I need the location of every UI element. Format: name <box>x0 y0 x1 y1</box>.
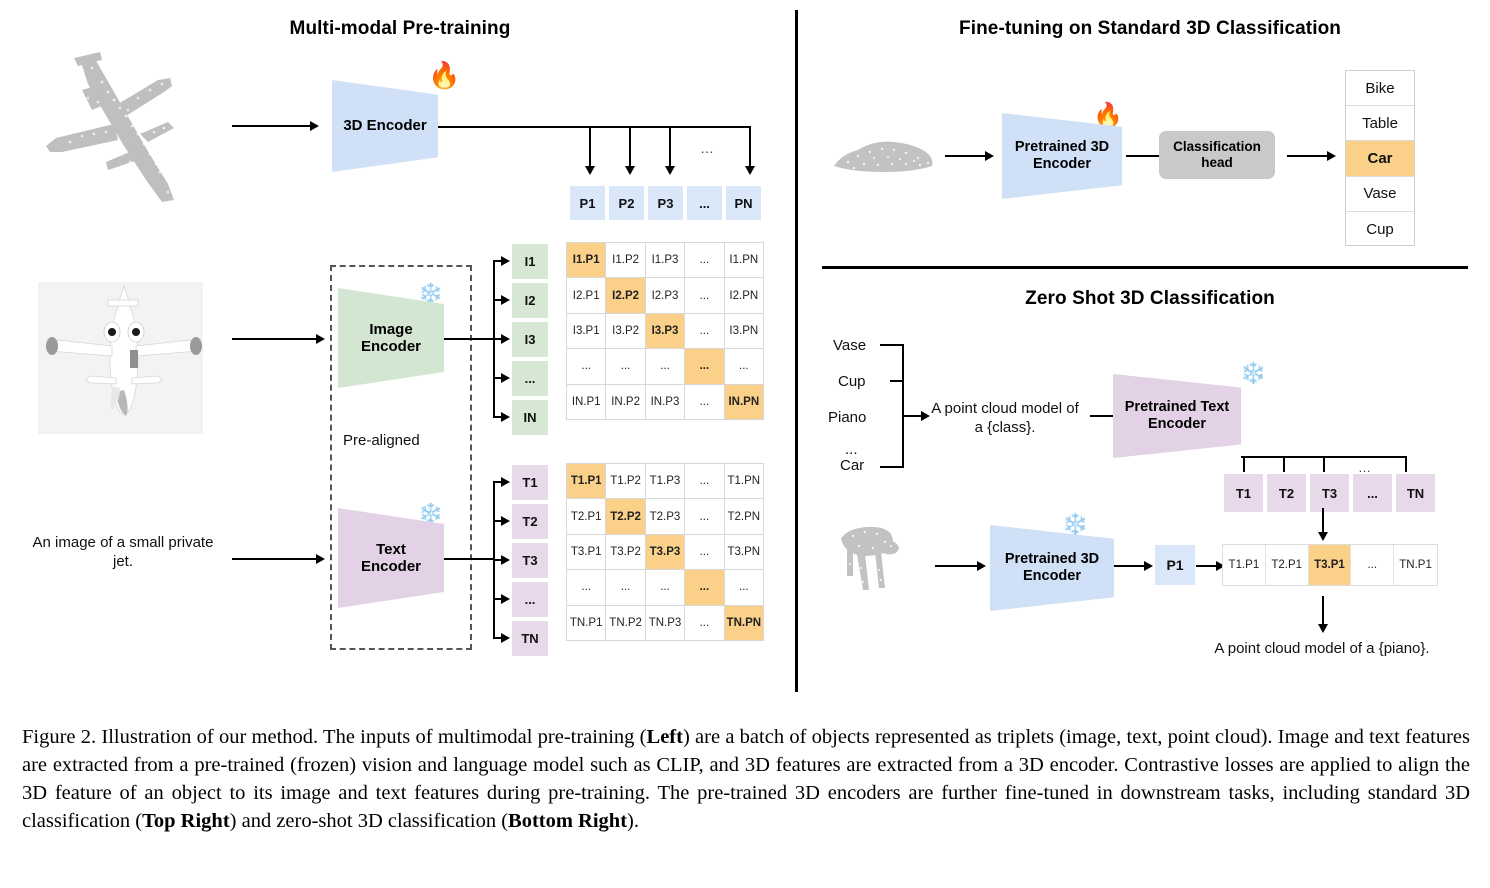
matrix-cell: T3.P1 <box>567 535 605 569</box>
candidate-class-1: Cup <box>838 373 866 392</box>
class-list-item[interactable]: Vase <box>1346 177 1414 212</box>
feature-cell: P1 <box>568 184 607 222</box>
arrow-p1-to-similarity <box>1196 565 1218 567</box>
drop-p2 <box>629 126 631 170</box>
figure-2-illustration: Multi-modal Pre-training <box>0 0 1490 888</box>
text-feature-column: T1T2T3...TN <box>510 463 550 658</box>
zeroshot-similarity-row: T1.P1T2.P1T3.P1...TN.P1 <box>1222 544 1438 586</box>
arrow-head <box>501 633 510 643</box>
matrix-cell: T1.PN <box>725 464 763 498</box>
similarity-cell: T1.P1 <box>1223 545 1266 585</box>
matrix-cell: IN.P1 <box>567 385 605 419</box>
text-feature-line <box>444 558 494 560</box>
zs-3d-encoder-label: Pretrained 3D Encoder <box>1005 551 1099 584</box>
matrix-cell: ... <box>567 570 605 604</box>
arrow-classes-to-prompt <box>903 415 923 417</box>
encoder-label-line2: Encoder <box>1033 156 1091 172</box>
matrix-cell: TN.PN <box>725 606 763 640</box>
feature-cell: I2 <box>510 281 550 320</box>
arrow-head <box>501 295 510 305</box>
snowflake-icon: ❄️ <box>1062 514 1088 535</box>
matrix-cell: ... <box>567 349 605 383</box>
matrix-cell: I1.PN <box>725 243 763 277</box>
matrix-cell: I1.P1 <box>567 243 605 277</box>
arrow-head <box>501 334 510 344</box>
image-feature-line <box>444 338 494 340</box>
feature-cell: I3 <box>510 320 550 359</box>
text-input-value: An image of a small private jet. <box>33 534 214 570</box>
class-prediction-list[interactable]: BikeTableCarVaseCup <box>1345 70 1415 246</box>
drop-pn <box>749 126 751 170</box>
class-list-item[interactable]: Car <box>1346 141 1414 176</box>
three-d-encoder-label: 3D Encoder <box>343 117 426 134</box>
arrow-head <box>1318 624 1328 633</box>
arrow-encoder-to-p1 <box>1114 565 1146 567</box>
class-bracket <box>880 344 904 468</box>
image-encoder-label-line2: Encoder <box>361 338 421 355</box>
arrow-head <box>665 166 675 175</box>
feature-cell: ... <box>510 359 550 398</box>
matrix-cell: T3.P2 <box>606 535 644 569</box>
caption-text: Figure 2. Illustration of our method. Th… <box>22 726 647 748</box>
caption-emphasis: Bottom Right <box>508 810 627 832</box>
text-encoder-label: Text Encoder <box>361 541 421 576</box>
class-list-item[interactable]: Table <box>1346 106 1414 141</box>
matrix-cell: I3.P3 <box>646 314 684 348</box>
matrix-cell: TN.P2 <box>606 606 644 640</box>
feature-cell: T1 <box>510 463 550 502</box>
prompt-line2: a {class}. <box>975 419 1036 436</box>
matrix-cell: IN.P2 <box>606 385 644 419</box>
similarity-cell: ... <box>1351 545 1394 585</box>
vertical-divider <box>795 10 798 692</box>
matrix-cell: T2.PN <box>725 499 763 533</box>
matrix-cell: ... <box>725 349 763 383</box>
matrix-cell: I2.P3 <box>646 278 684 312</box>
candidate-class-0: Vase <box>833 337 866 356</box>
zeroshot-text-feature-row: T1T2T3...TN <box>1222 472 1437 514</box>
text-input-label: An image of a small private jet. <box>32 534 214 572</box>
matrix-cell: T1.P3 <box>646 464 684 498</box>
drop-p3 <box>669 126 671 170</box>
matrix-cell: T2.P3 <box>646 499 684 533</box>
arrow-head <box>310 121 319 131</box>
arrow-head <box>501 594 510 604</box>
feature-cell: T3 <box>1308 472 1351 514</box>
classification-head[interactable]: Classification head <box>1159 131 1275 179</box>
airplane-image-thumbnail <box>38 282 203 434</box>
zeroshot-point-feature: P1 <box>1155 545 1195 585</box>
matrix-cell: ... <box>685 499 723 533</box>
matrix-cell: ... <box>685 535 723 569</box>
arrow-head <box>501 412 510 422</box>
arrow-text-to-textencoder <box>232 558 318 560</box>
image-feature-column: I1I2I3...IN <box>510 242 550 437</box>
matrix-cell: ... <box>685 349 723 383</box>
matrix-cell: ... <box>725 570 763 604</box>
caption-text: ). <box>627 810 639 832</box>
text-encoder-label-line1: Pretrained Text <box>1125 399 1230 415</box>
similarity-cell: T3.P1 <box>1309 545 1352 585</box>
feature-cell: P2 <box>607 184 646 222</box>
horizontal-divider <box>822 266 1468 269</box>
pretrained-text-encoder[interactable]: Pretrained Text Encoder <box>1113 374 1241 458</box>
arrow-head <box>745 166 755 175</box>
fire-icon: 🔥 <box>428 62 460 88</box>
matrix-cell: T3.PN <box>725 535 763 569</box>
arrow-head-to-classes <box>1287 155 1329 157</box>
snowflake-icon: ❄️ <box>1240 363 1266 384</box>
three-d-encoder[interactable]: 3D Encoder <box>332 80 438 172</box>
arrow-head <box>501 256 510 266</box>
matrix-cell: I1.P2 <box>606 243 644 277</box>
arrow-head <box>501 477 510 487</box>
matrix-cell: ... <box>685 243 723 277</box>
text-encoder-label-line2: Encoder <box>1148 416 1206 432</box>
figure-caption: Figure 2. Illustration of our method. Th… <box>22 724 1470 836</box>
matrix-cell: ... <box>606 349 644 383</box>
feature-cell: T3 <box>510 541 550 580</box>
car-point-cloud <box>828 130 938 182</box>
bottom-right-panel-title: Zero Shot 3D Classification <box>880 288 1420 310</box>
matrix-cell: TN.P1 <box>567 606 605 640</box>
arrow-head <box>585 166 595 175</box>
feature-cell: ... <box>1351 472 1394 514</box>
matrix-cell: IN.P3 <box>646 385 684 419</box>
prompt-template: A point cloud model of a {class}. <box>925 400 1085 438</box>
matrix-cell: I2.P2 <box>606 278 644 312</box>
arrow-head <box>625 166 635 175</box>
similarity-cell: T2.P1 <box>1266 545 1309 585</box>
matrix-cell: T1.P1 <box>567 464 605 498</box>
image-encoder-label-line1: Image <box>369 321 412 338</box>
arrow-image-to-imageencoder <box>232 338 318 340</box>
image-encoder[interactable]: Image Encoder <box>338 288 444 388</box>
arrow-pointcloud-to-3dencoder <box>232 125 312 127</box>
arrow-head <box>501 373 510 383</box>
class-list-item[interactable]: Bike <box>1346 71 1414 106</box>
matrix-cell: I3.PN <box>725 314 763 348</box>
matrix-cell: ... <box>606 570 644 604</box>
matrix-cell: I3.P1 <box>567 314 605 348</box>
arrow-car-to-encoder <box>945 155 987 157</box>
head-label-line2: head <box>1201 155 1233 170</box>
matrix-cell: I2.P1 <box>567 278 605 312</box>
feature-cell: T2 <box>510 502 550 541</box>
arrow-head <box>985 151 994 161</box>
top-right-panel-title: Fine-tuning on Standard 3D Classificatio… <box>850 18 1450 40</box>
point-feature-row: P1P2P3...PN <box>568 184 763 222</box>
pretrained-3d-encoder-finetune[interactable]: Pretrained 3D Encoder <box>1002 113 1122 199</box>
arrow-head <box>501 555 510 565</box>
text-encoder-label-line2: Encoder <box>361 558 421 575</box>
similarity-cell: TN.P1 <box>1394 545 1437 585</box>
matrix-cell: T1.P2 <box>606 464 644 498</box>
matrix-cell: ... <box>685 606 723 640</box>
feature-cell: TN <box>1394 472 1437 514</box>
image-encoder-label: Image Encoder <box>361 321 421 356</box>
feature-cell: I1 <box>510 242 550 281</box>
arrow-head <box>977 561 986 571</box>
encoder-label-line1: Pretrained 3D <box>1015 139 1109 155</box>
classification-head-label: Classification head <box>1173 139 1261 171</box>
matrix-cell: I3.P2 <box>606 314 644 348</box>
matrix-cell: T2.P1 <box>567 499 605 533</box>
arrow-piano-to-encoder <box>935 565 979 567</box>
matrix-cell: IN.PN <box>725 385 763 419</box>
feature-bus-line <box>438 126 750 128</box>
image-point-similarity-matrix: I1.P1I1.P2I1.P3...I1.PNI2.P1I2.P2I2.P3..… <box>566 242 764 420</box>
text-point-similarity-matrix: T1.P1T1.P2T1.P3...T1.PNT2.P1T2.P2T2.P3..… <box>566 463 764 641</box>
pretrained-text-encoder-label: Pretrained Text Encoder <box>1125 399 1230 432</box>
feature-cell: PN <box>724 184 763 222</box>
pretrained-3d-encoder-label: Pretrained 3D Encoder <box>1015 139 1109 172</box>
zeroshot-result-text: A point cloud model of a {piano}. <box>1172 640 1472 659</box>
feature-cell: ... <box>510 580 550 619</box>
arrow-head <box>1318 532 1328 541</box>
pretrained-3d-encoder-zeroshot[interactable]: Pretrained 3D Encoder <box>990 525 1114 611</box>
arrow-head <box>316 334 325 344</box>
caption-text: ) and zero-shot 3D classification ( <box>230 810 508 832</box>
caption-emphasis: Left <box>647 726 683 748</box>
matrix-cell: TN.P3 <box>646 606 684 640</box>
matrix-cell: ... <box>685 464 723 498</box>
matrix-cell: T2.P2 <box>606 499 644 533</box>
ellipsis-drop-label: … <box>700 140 714 158</box>
feature-cell: ... <box>685 184 724 222</box>
left-panel-title: Multi-modal Pre-training <box>180 18 620 40</box>
arrow-head <box>1327 151 1336 161</box>
feature-cell: T1 <box>1222 472 1265 514</box>
feature-cell: IN <box>510 398 550 437</box>
class-list-item[interactable]: Cup <box>1346 212 1414 247</box>
matrix-cell: ... <box>685 278 723 312</box>
matrix-cell: ... <box>646 349 684 383</box>
zs-encoder-label-line1: Pretrained 3D <box>1005 551 1099 567</box>
matrix-cell: ... <box>685 570 723 604</box>
arrow-head <box>316 554 325 564</box>
matrix-cell: ... <box>685 314 723 348</box>
pre-aligned-label: Pre-aligned <box>343 432 420 449</box>
matrix-cell: T3.P3 <box>646 535 684 569</box>
zs-encoder-label-line2: Encoder <box>1023 568 1081 584</box>
feature-cell: T2 <box>1265 472 1308 514</box>
caption-emphasis: Top Right <box>142 810 230 832</box>
head-label-line1: Classification <box>1173 139 1261 154</box>
text-encoder-label-line1: Text <box>376 541 406 558</box>
prompt-line1: A point cloud model of <box>931 400 1079 417</box>
matrix-cell: ... <box>685 385 723 419</box>
matrix-cell: I1.P3 <box>646 243 684 277</box>
feature-cell: TN <box>510 619 550 658</box>
feature-cell: P3 <box>646 184 685 222</box>
candidate-class-2: Piano <box>828 409 866 428</box>
candidate-class-4: Car <box>840 457 864 476</box>
airplane-point-cloud <box>22 42 232 222</box>
arrow-head <box>501 516 510 526</box>
drop-p1 <box>589 126 591 170</box>
text-encoder[interactable]: Text Encoder <box>338 508 444 608</box>
matrix-cell: ... <box>646 570 684 604</box>
matrix-cell: I2.PN <box>725 278 763 312</box>
arrow-head <box>1144 561 1153 571</box>
piano-point-cloud <box>833 518 925 600</box>
